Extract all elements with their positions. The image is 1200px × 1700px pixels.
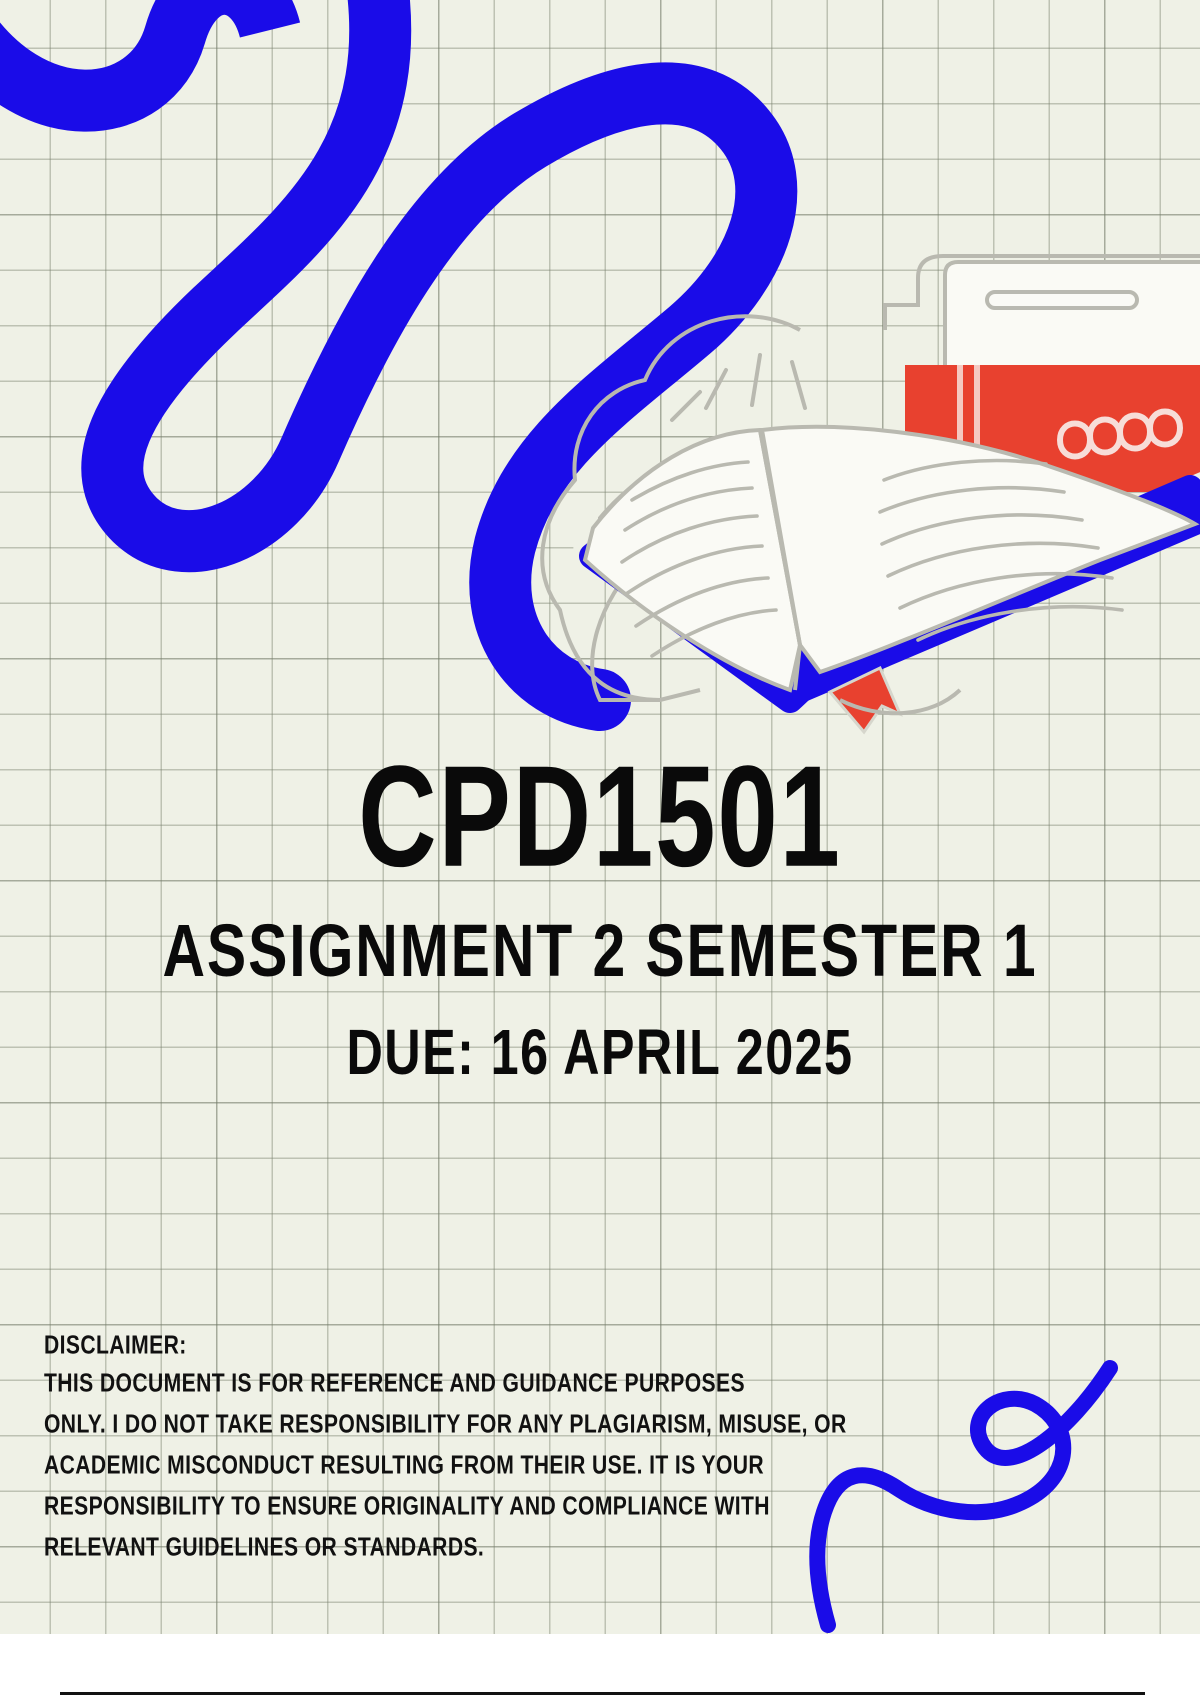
disclaimer-line: ONLY. I DO NOT TAKE RESPONSIBILITY FOR A…	[44, 1409, 1004, 1440]
disclaimer-block: DISCLAIMER: THIS DOCUMENT IS FOR REFEREN…	[44, 1330, 1044, 1573]
due-date-line: DUE: 16 APRIL 2025	[30, 1021, 1170, 1085]
title-block: CPD1501 ASSIGNMENT 2 SEMESTER 1 DUE: 16 …	[0, 745, 1200, 1074]
disclaimer-line: RELEVANT GUIDELINES OR STANDARDS.	[44, 1532, 1004, 1563]
disclaimer-line: ACADEMIC MISCONDUCT RESULTING FROM THEIR…	[44, 1450, 1004, 1481]
course-code: CPD1501	[48, 745, 1152, 889]
bottom-margin	[0, 1634, 1200, 1700]
assignment-cover-page: CPD1501 ASSIGNMENT 2 SEMESTER 1 DUE: 16 …	[0, 0, 1200, 1700]
disclaimer-heading: DISCLAIMER:	[44, 1330, 1004, 1361]
disclaimer-line: RESPONSIBILITY TO ENSURE ORIGINALITY AND…	[44, 1491, 1004, 1522]
assignment-subtitle: ASSIGNMENT 2 SEMESTER 1	[30, 915, 1170, 989]
bottom-divider-rule	[60, 1692, 1145, 1695]
disclaimer-line: THIS DOCUMENT IS FOR REFERENCE AND GUIDA…	[44, 1368, 1004, 1399]
